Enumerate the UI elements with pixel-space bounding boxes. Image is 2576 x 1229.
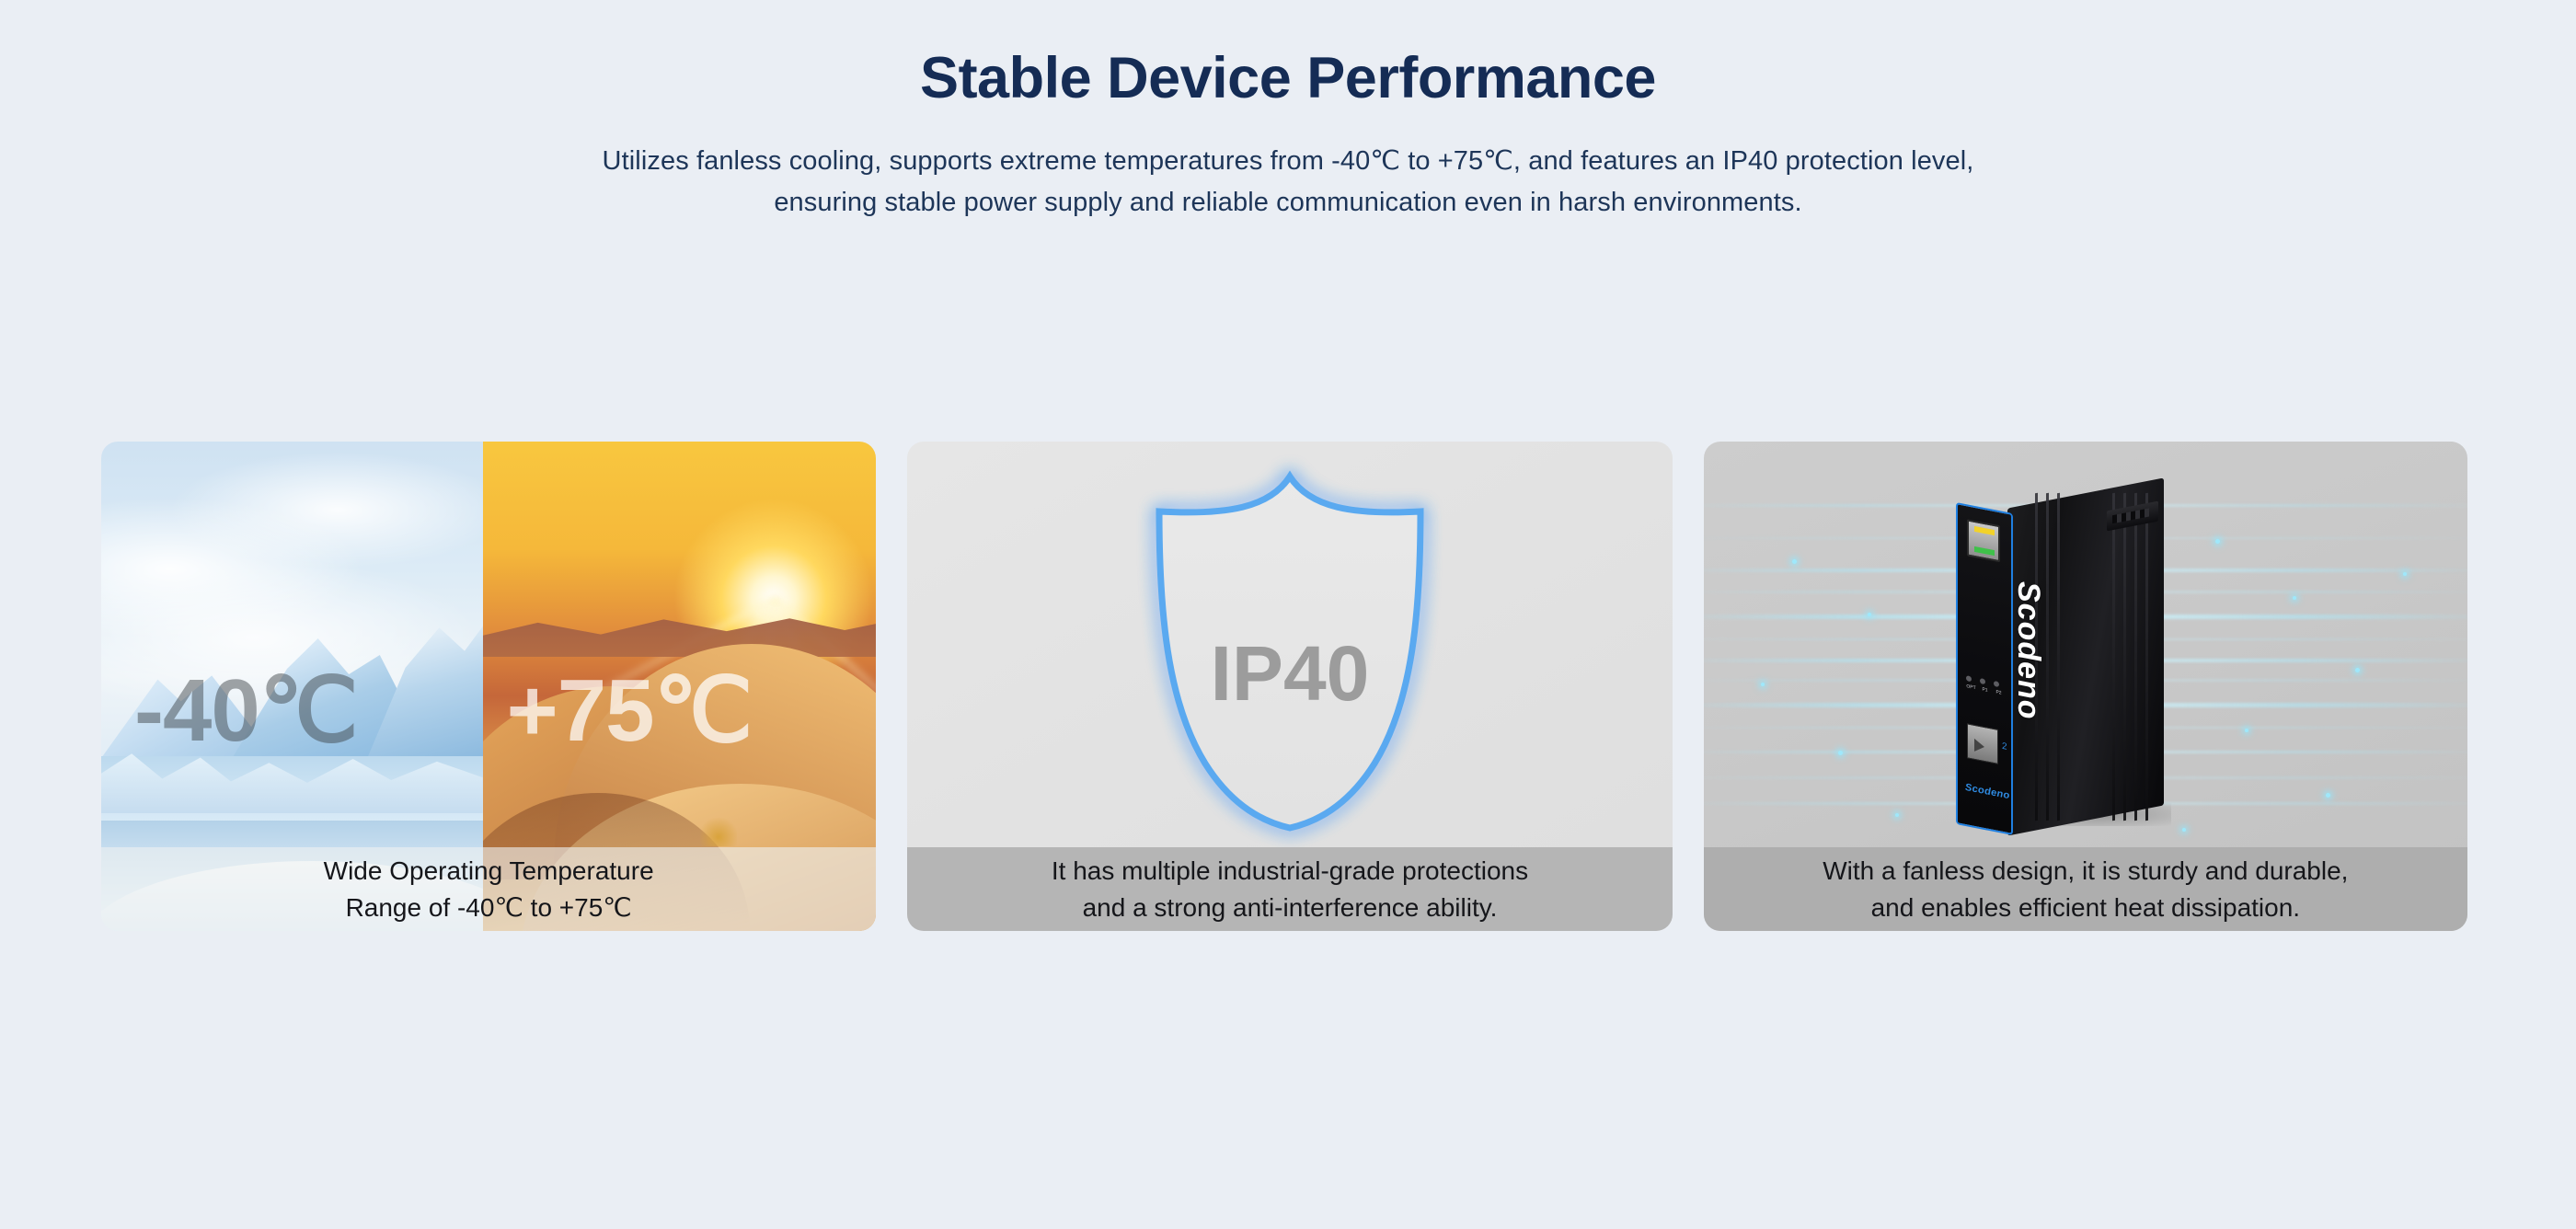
rj45-port-icon [1967, 519, 2000, 562]
caption-line-2: and enables efficient heat dissipation. [1871, 890, 2300, 926]
heatsink-fin [2046, 493, 2049, 821]
shield-graphic: IP40 [907, 462, 1672, 839]
device-front-panel: OPT P1 P2 2 Scodeno [1956, 502, 2013, 835]
card-caption: With a fanless design, it is sturdy and … [1704, 847, 2467, 931]
feature-card-temperature-range[interactable]: -40℃ +75℃ [101, 442, 876, 931]
led-indicator-group: OPT P1 P2 [1966, 675, 2007, 697]
led-indicator [1994, 681, 1999, 687]
page-root: Stable Device Performance Utilizes fanle… [0, 0, 2576, 1229]
caption-line-2: Range of -40℃ to +75℃ [346, 890, 632, 926]
industrial-switch-device: Scodeno OPT P1 P2 [1950, 493, 2180, 835]
feature-card-fanless-design[interactable]: Scodeno OPT P1 P2 [1704, 442, 2467, 931]
subtitle-line-1: Utilizes fanless cooling, supports extre… [0, 141, 2576, 182]
sfp-port-icon [1967, 723, 1998, 764]
led-label-p1: P1 [1980, 686, 1990, 694]
device-side-brand: Scodeno [2010, 581, 2046, 720]
sparkle-icon [2403, 572, 2407, 576]
desert-bush-icon [700, 815, 737, 846]
sparkle-icon [2355, 668, 2360, 672]
led-label-p2: P2 [1994, 689, 2004, 696]
heatsink-fin [2123, 493, 2126, 821]
caption-line-1: Wide Operating Temperature [324, 853, 654, 890]
feature-card-ip40-protection[interactable]: IP40 It has multiple industrial-grade pr… [907, 442, 1672, 931]
heatsink-fin [2112, 493, 2115, 821]
led-indicator [1980, 678, 1985, 684]
heatsink-fin [2134, 493, 2137, 821]
caption-line-1: It has multiple industrial-grade protect… [1052, 853, 1528, 890]
ip-rating-text: IP40 [907, 629, 1672, 718]
feature-card-row: -40℃ +75℃ [101, 442, 2467, 931]
port-number-label: 2 [2002, 741, 2007, 752]
header-section: Stable Device Performance Utilizes fanle… [0, 0, 2576, 224]
led-indicator [1966, 675, 1972, 682]
cold-temperature-label: -40℃ [134, 659, 358, 762]
caption-line-2: and a strong anti-interference ability. [1083, 890, 1498, 926]
subtitle-line-2: ensuring stable power supply and reliabl… [0, 182, 2576, 224]
sparkle-icon [1838, 751, 1843, 755]
sparkle-icon [2293, 596, 2296, 600]
sparkle-icon [2326, 793, 2330, 798]
sparkle-icon [2182, 828, 2186, 832]
hot-temperature-label: +75℃ [507, 659, 753, 762]
heatsink-fin [2145, 493, 2148, 821]
sparkle-icon [1792, 559, 1797, 564]
card-caption: Wide Operating Temperature Range of -40℃… [101, 847, 876, 931]
card-caption: It has multiple industrial-grade protect… [907, 847, 1672, 931]
sparkle-icon [2245, 729, 2248, 732]
sparkle-icon [1895, 813, 1899, 817]
page-title: Stable Device Performance [0, 42, 2576, 115]
sparkle-icon [1868, 613, 1871, 616]
caption-line-1: With a fanless design, it is sturdy and … [1823, 853, 2348, 890]
subtitle-block: Utilizes fanless cooling, supports extre… [0, 141, 2576, 224]
led-label-opt: OPT [1966, 683, 1976, 691]
sparkle-icon [1761, 683, 1765, 686]
device-front-brand: Scodeno [1965, 782, 2010, 801]
heatsink-fin [2057, 493, 2060, 821]
sparkle-icon [2215, 539, 2220, 544]
